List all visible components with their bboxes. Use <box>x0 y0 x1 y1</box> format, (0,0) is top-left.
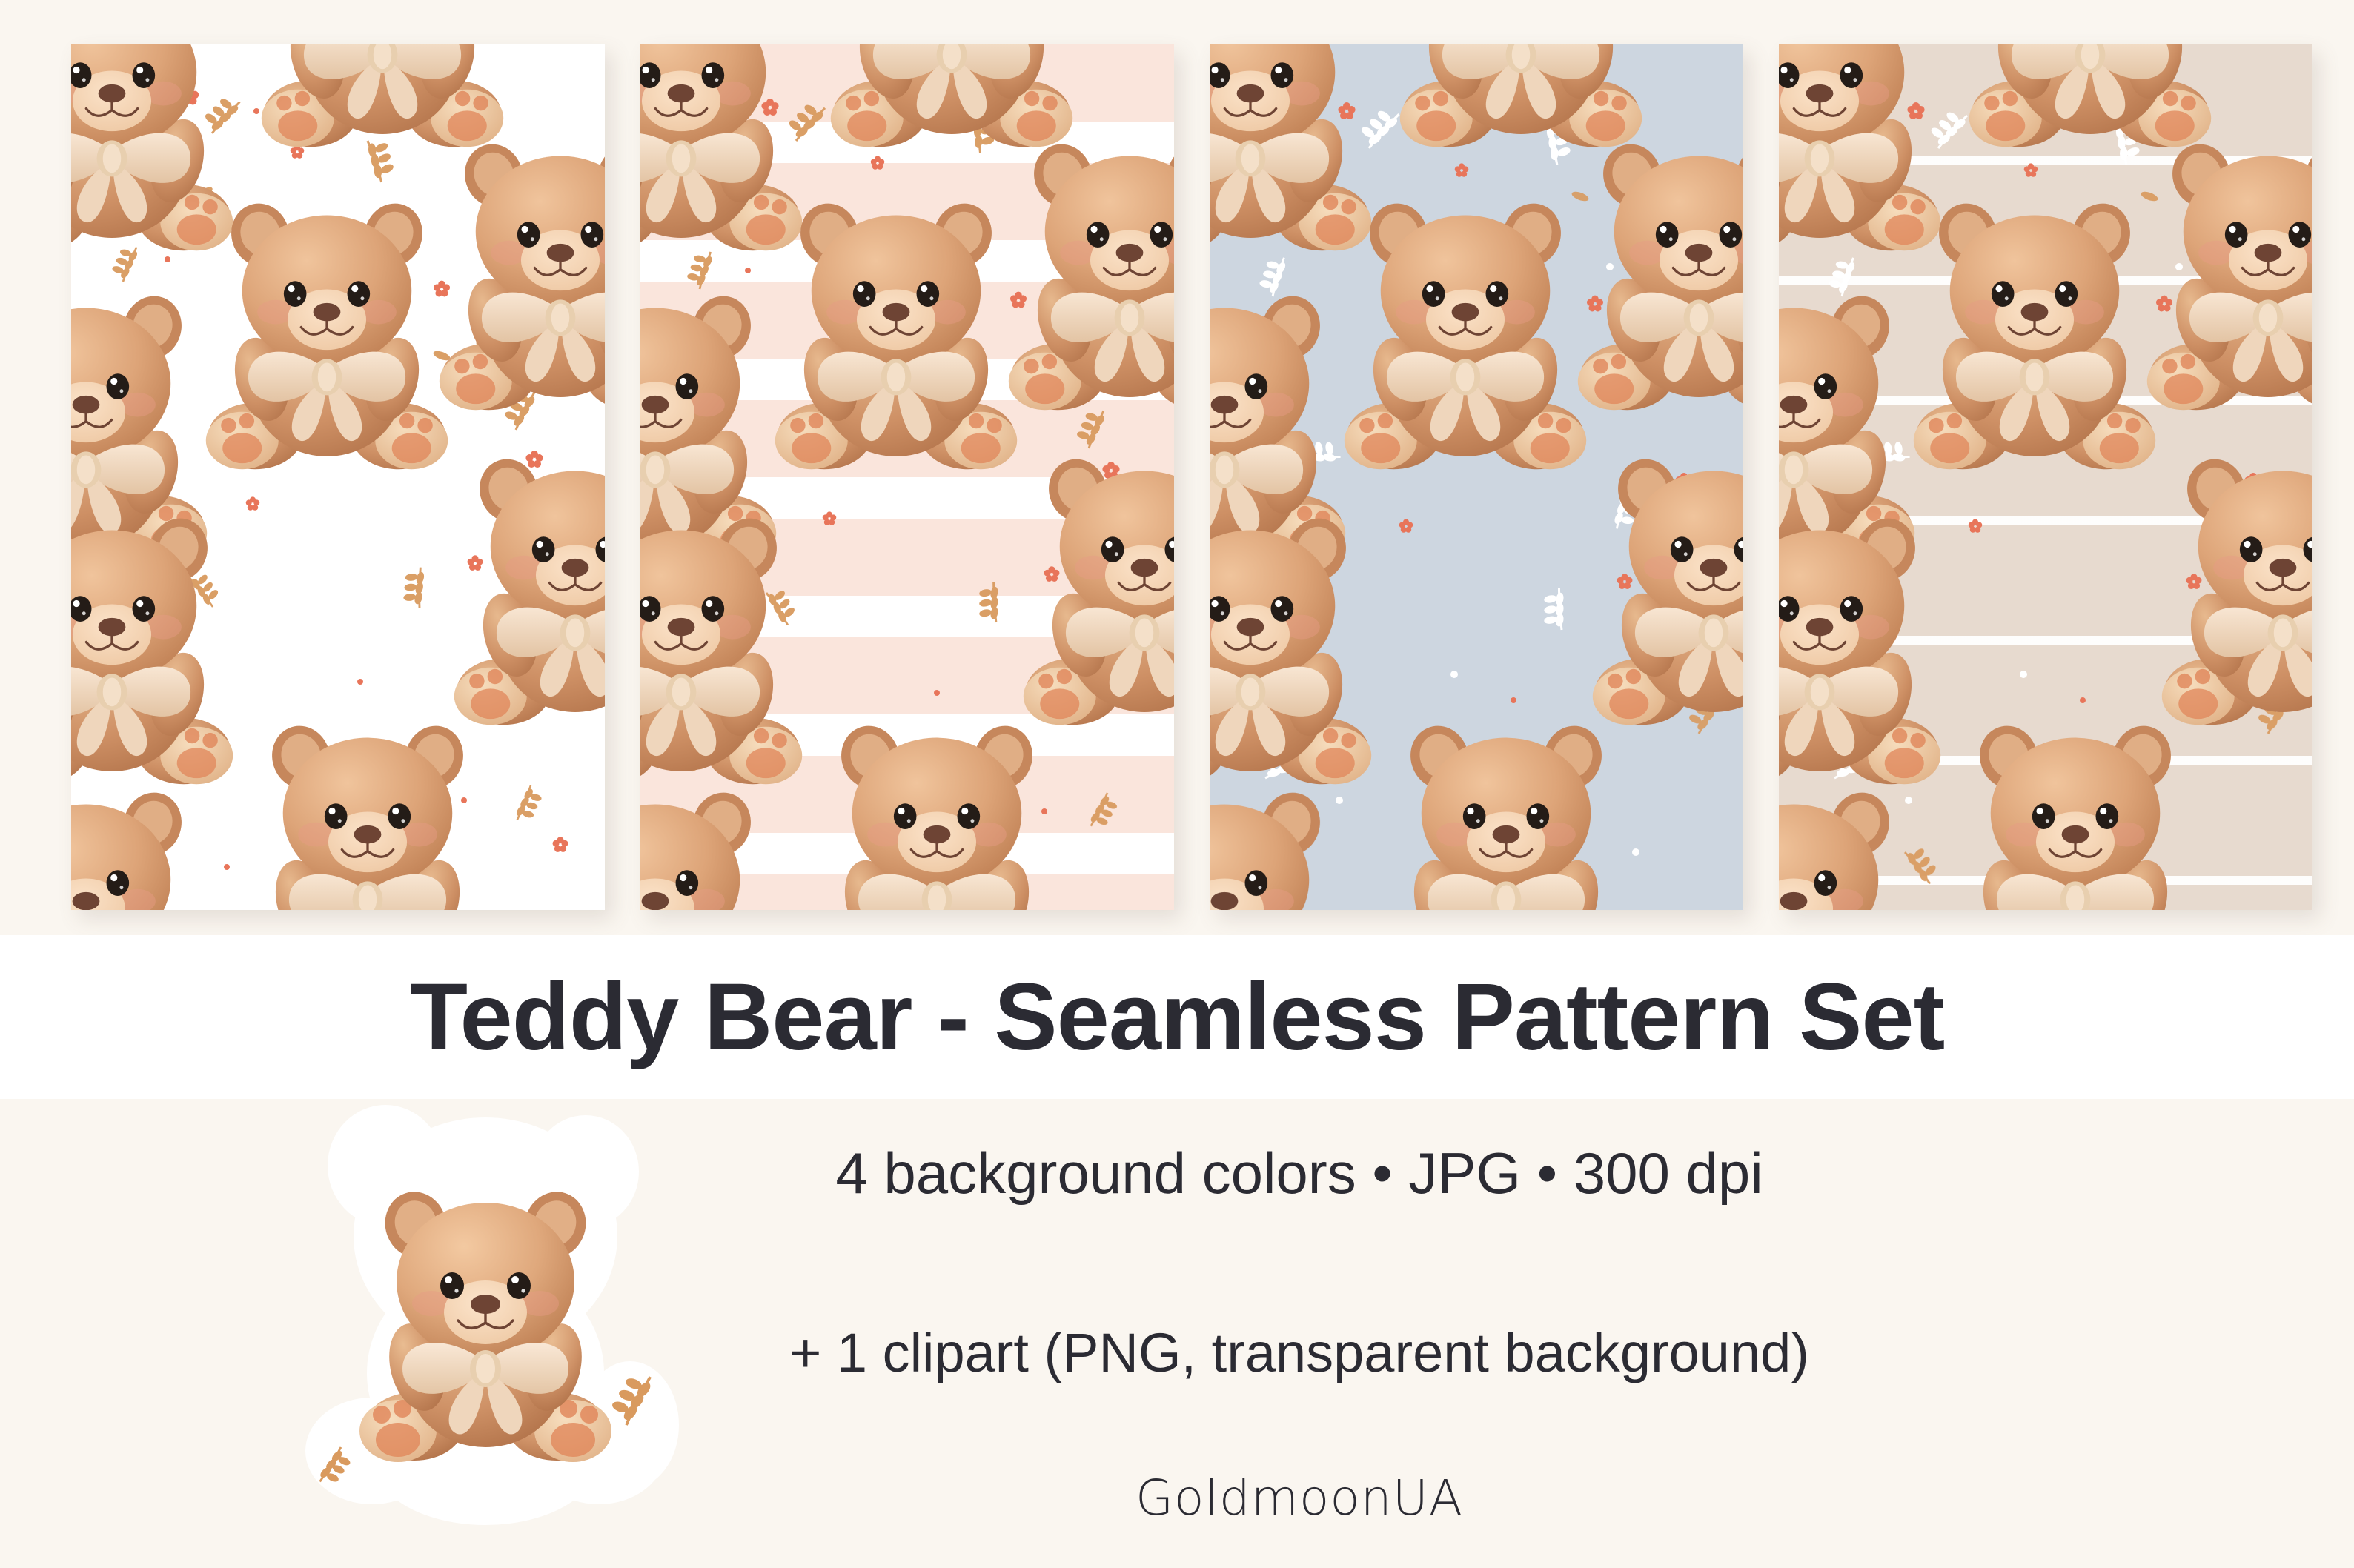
pattern-panel-pink[interactable] <box>640 44 1174 910</box>
pattern-panels-strip <box>0 0 2354 935</box>
pattern-panel-blue[interactable] <box>1210 44 1743 910</box>
formats-line: 4 background colors • JPG • 300 dpi <box>0 1140 2354 1207</box>
panel-beige-artwork <box>1779 44 2312 910</box>
brand-name: GoldmoonUA <box>0 1469 2354 1527</box>
panel-blue-artwork <box>1210 44 1743 910</box>
clipart-line: + 1 clipart (PNG, transparent background… <box>0 1321 2354 1384</box>
page-title: Teddy Bear - Seamless Pattern Set <box>410 963 1944 1072</box>
title-band: Teddy Bear - Seamless Pattern Set <box>0 935 2354 1099</box>
panel-pink-artwork <box>640 44 1174 910</box>
pattern-panel-white[interactable] <box>71 44 605 910</box>
info-section: 4 background colors • JPG • 300 dpi + 1 … <box>0 1099 2354 1568</box>
pattern-panel-beige[interactable] <box>1779 44 2312 910</box>
panel-white-artwork <box>71 44 605 910</box>
